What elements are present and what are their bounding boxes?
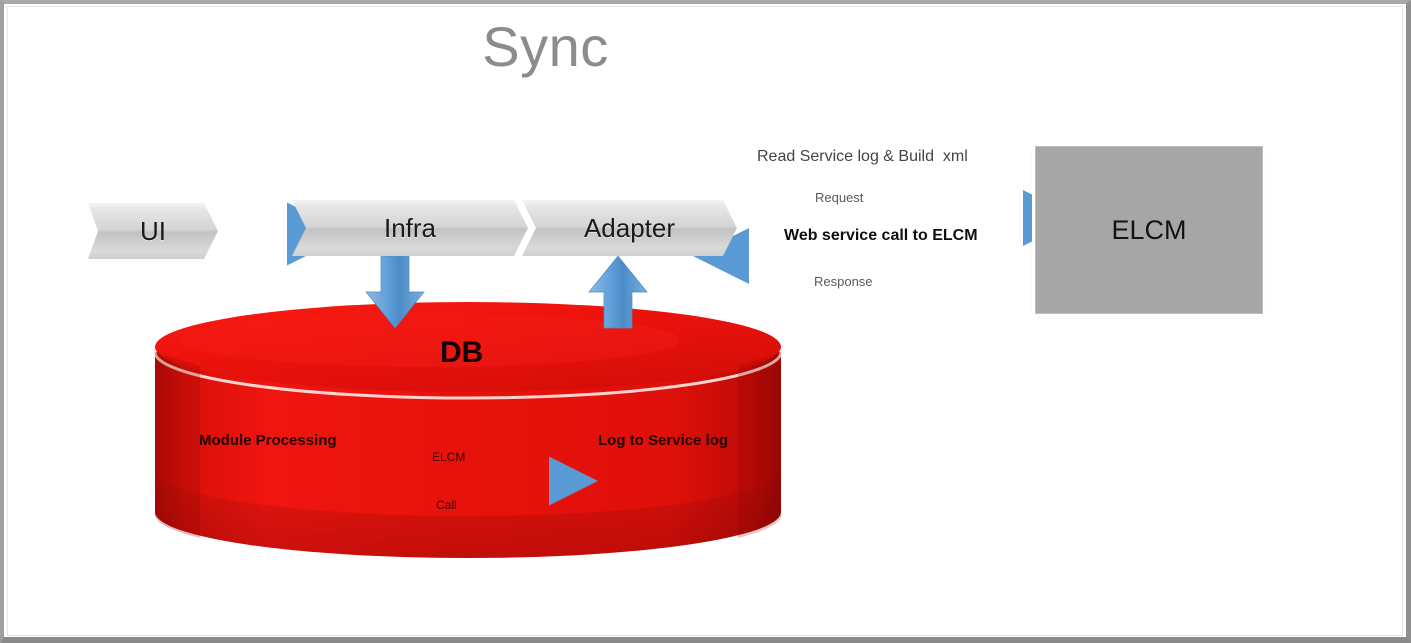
db-label-log-to-service-log: Log to Service log (598, 432, 728, 449)
annotation-read-service-log: Read Service log & Build xml (757, 148, 968, 166)
node-ui[interactable]: UI (88, 203, 218, 259)
node-elcm[interactable]: ELCM (1035, 146, 1263, 314)
db-label-module-processing: Module Processing (199, 432, 337, 449)
node-ui-label: UI (140, 216, 166, 247)
node-db-label: DB (440, 336, 483, 370)
db-flow-label-bottom: Call (436, 498, 457, 512)
annotation-request: Request (815, 190, 863, 205)
node-infra[interactable]: Infra (292, 200, 528, 256)
annotation-response: Response (814, 274, 873, 289)
node-infra-label: Infra (384, 213, 436, 244)
db-flow-label-top: ELCM (432, 450, 465, 464)
node-adapter-label: Adapter (584, 213, 675, 244)
vector-overlay (0, 0, 1411, 643)
node-elcm-label: ELCM (1111, 215, 1186, 246)
node-adapter[interactable]: Adapter (522, 200, 737, 256)
annotation-web-service-call: Web service call to ELCM (784, 227, 978, 245)
diagram-canvas: Sync (0, 0, 1411, 643)
